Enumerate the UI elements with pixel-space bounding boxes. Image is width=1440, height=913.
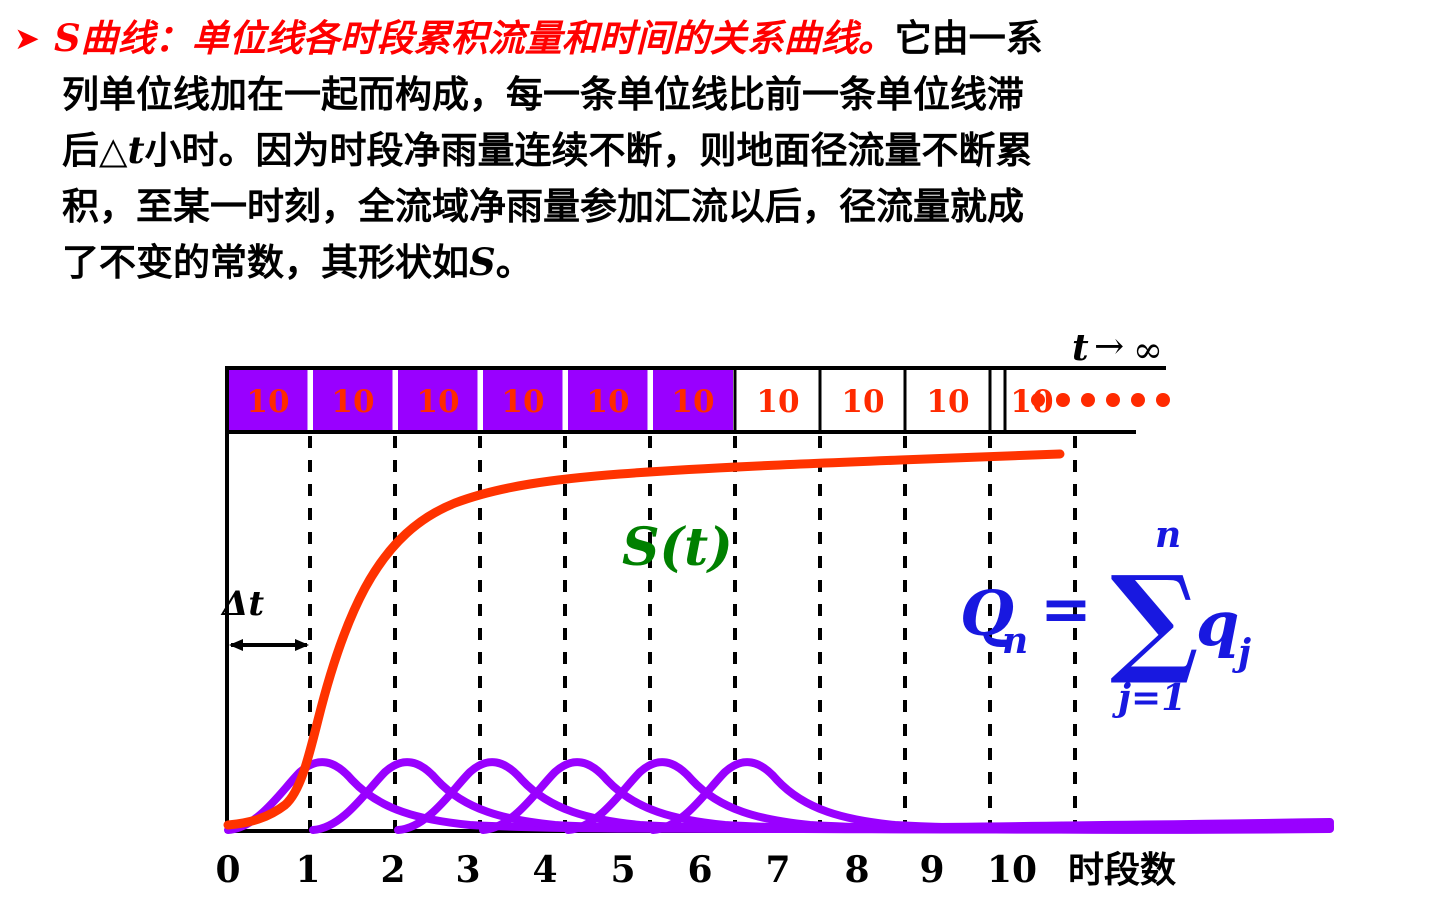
x-tick-label-8: 8 xyxy=(844,849,869,891)
x-axis-tick-labels: 0 1 2 3 4 5 6 7 8 9 10 时段数 xyxy=(215,849,1176,891)
x-tick-label-3: 3 xyxy=(455,849,480,891)
t-to-infinity-t: t xyxy=(1072,327,1089,369)
rain-cell-value-8: 10 xyxy=(841,384,884,420)
rain-cell-value-1: 10 xyxy=(246,384,289,420)
paragraph-line-1-red: S曲线：单位线各时段累积流量和时间的关系曲线。 xyxy=(54,16,895,60)
t-to-infinity-annotation: t → ∞ xyxy=(1072,326,1163,371)
delta-t-label: Δt xyxy=(220,584,264,624)
chart-axes xyxy=(225,368,1166,832)
paragraph-line-5: 了不变的常数，其形状如S。 xyxy=(62,238,533,287)
x-tick-label-0: 0 xyxy=(215,849,240,891)
bullet-arrow-icon: ➤ xyxy=(14,15,54,64)
s-curve-figure: t → ∞ 10 10 10 10 10 10 10 10 10 xyxy=(0,320,1440,913)
formula-sigma-icon: ∑ xyxy=(1110,549,1199,688)
rain-cell-value-2: 10 xyxy=(331,384,374,420)
delta-t-arrow-right-icon xyxy=(295,639,309,651)
x-tick-label-6: 6 xyxy=(687,849,712,891)
x-tick-label-1: 1 xyxy=(295,849,320,891)
x-axis-title: 时段数 xyxy=(1068,850,1176,891)
formula-lhs-sub-n: n xyxy=(1002,620,1028,662)
formula-upper-limit: n xyxy=(1155,514,1181,556)
paragraph-line-2: 列单位线加在一起而构成，每一条单位线比前一条单位线滞 xyxy=(62,70,1024,119)
paragraph-line-1-black: 它由一系 xyxy=(895,17,1043,60)
x-tick-label-9: 9 xyxy=(919,849,944,891)
summation-formula: Q n = ∑ n j=1 q j xyxy=(960,514,1251,719)
rain-cell-value-7: 10 xyxy=(756,384,799,420)
paragraph-line-5-suffix: 。 xyxy=(496,241,533,284)
x-tick-label-7: 7 xyxy=(765,849,790,891)
x-tick-label-10: 10 xyxy=(987,849,1037,891)
rain-cell-value-4: 10 xyxy=(501,384,544,420)
rain-cell-value-3: 10 xyxy=(416,384,459,420)
paragraph-line-3-suffix: 小时。因为时段净雨量连续不断，则地面径流量不断累 xyxy=(145,129,1033,172)
chart-canvas: t → ∞ 10 10 10 10 10 10 10 10 10 xyxy=(0,320,1440,913)
rain-cell-value-6: 10 xyxy=(671,384,714,420)
variable-s: S xyxy=(469,240,496,284)
x-tick-label-4: 4 xyxy=(532,849,557,891)
s-curve-label: S(t) xyxy=(622,517,733,578)
rain-cell-value-5: 10 xyxy=(586,384,629,420)
rain-cell-value-9: 10 xyxy=(926,384,969,420)
paragraph-line-1: ➤S曲线：单位线各时段累积流量和时间的关系曲线。它由一系 xyxy=(14,14,1043,64)
paragraph-line-5-prefix: 了不变的常数，其形状如 xyxy=(62,241,469,284)
infinity-icon: ∞ xyxy=(1133,330,1163,371)
paragraph-line-4: 积，至某一时刻，全流域净雨量参加汇流以后，径流量就成 xyxy=(62,182,1024,231)
x-tick-label-5: 5 xyxy=(610,849,635,891)
rainfall-bar: 10 10 10 10 10 10 10 10 10 10 xyxy=(225,368,1170,432)
formula-equals: = xyxy=(1040,572,1092,645)
delta-t-annotation: Δt xyxy=(220,584,309,651)
paragraph-line-3: 后△t小时。因为时段净雨量连续不断，则地面径流量不断累 xyxy=(62,126,1033,175)
formula-term-q: q xyxy=(1196,587,1239,660)
delta-glyph: △ xyxy=(99,129,127,172)
x-tick-label-2: 2 xyxy=(380,849,405,891)
t-to-infinity-arrow: → xyxy=(1094,326,1124,367)
variable-t: t xyxy=(127,128,144,172)
delta-t-arrow-left-icon xyxy=(229,639,243,651)
paragraph-line-3-prefix: 后 xyxy=(62,129,99,172)
formula-lower-limit: j=1 xyxy=(1112,677,1186,719)
